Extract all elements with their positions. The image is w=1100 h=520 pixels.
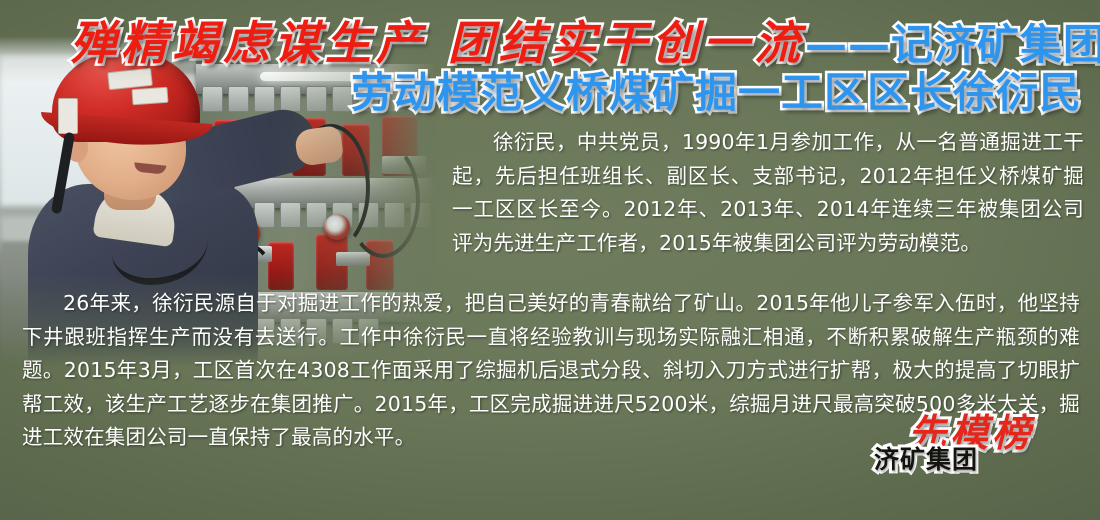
chrome-fitting (336, 252, 370, 266)
title-blue-tail: ——记济矿集团 (805, 20, 1100, 69)
title-calligraphy-red: 殚精竭虑谋生产 团结实干创一流 (70, 16, 805, 70)
model-worker-badge: 先模榜 济矿集团 (874, 402, 1074, 480)
page-subtitle: 劳动模范义桥煤矿掘一工区区长徐衍民 (70, 70, 1082, 125)
miner-hand (294, 125, 345, 167)
page-title: 殚精竭虑谋生产 团结实干创一流——记济矿集团 (70, 14, 1080, 76)
article-paragraph-1: 徐衍民，中共党员，1990年1月参加工作，从一名普通掘进工干起，先后担任班组长、… (452, 126, 1084, 260)
badge-company-text: 济矿集团 (874, 440, 978, 476)
subtitle-text: 劳动模范义桥煤矿掘一工区区长徐衍民 (351, 68, 1082, 117)
poster-canvas: 殚精竭虑谋生产 团结实干创一流——记济矿集团 劳动模范义桥煤矿掘一工区区长徐衍民… (0, 0, 1100, 520)
power-cable (346, 142, 420, 258)
